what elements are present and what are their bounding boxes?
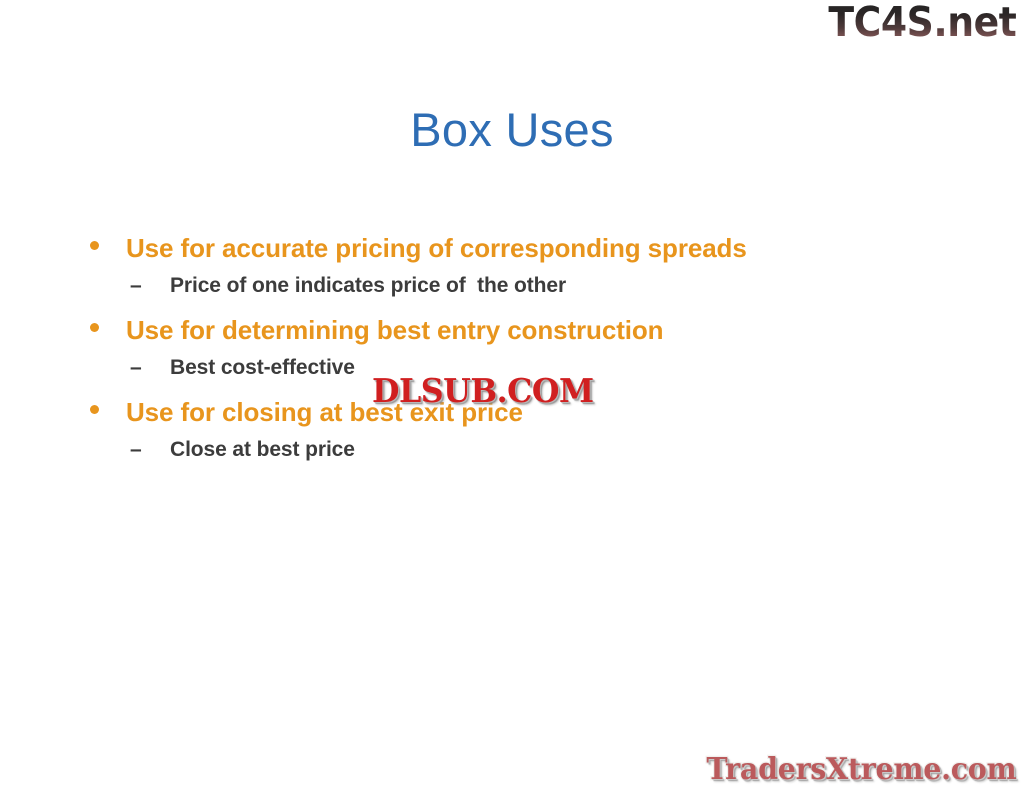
sub-bullet-label: Best cost-effective — [170, 356, 355, 379]
tc4s-brand-logo: TC4S.net — [828, 1, 1016, 44]
bullet-item-1: Use for accurate pricing of correspondin… — [78, 232, 958, 268]
dash-icon: – — [130, 354, 142, 381]
dash-icon: – — [130, 436, 142, 463]
bullet-item-2: Use for determining best entry construct… — [78, 314, 958, 350]
sub-bullet-item-3: – Close at best price — [78, 436, 958, 464]
dlsub-watermark: DLSUB.COM — [372, 374, 594, 407]
sub-bullet-item-1: – Price of one indicates price of the ot… — [78, 272, 958, 300]
sub-bullet-label: Price of one indicates price of the othe… — [170, 274, 566, 297]
bullet-label: Use for determining best entry construct… — [126, 315, 663, 345]
bullet-group: Use for accurate pricing of correspondin… — [78, 232, 958, 300]
tradersxtreme-watermark: TradersXtreme.com — [706, 754, 1016, 786]
bullet-dot-icon — [90, 405, 99, 414]
slide-body: Use for accurate pricing of correspondin… — [78, 232, 958, 478]
bullet-dot-icon — [90, 241, 99, 250]
bullet-dot-icon — [90, 323, 99, 332]
page-title: Box Uses — [0, 104, 1024, 156]
sub-bullet-label: Close at best price — [170, 438, 355, 461]
dash-icon: – — [130, 272, 142, 299]
slide-canvas: TC4S.net Box Uses Use for accurate prici… — [0, 0, 1024, 791]
bullet-label: Use for accurate pricing of correspondin… — [126, 233, 747, 263]
